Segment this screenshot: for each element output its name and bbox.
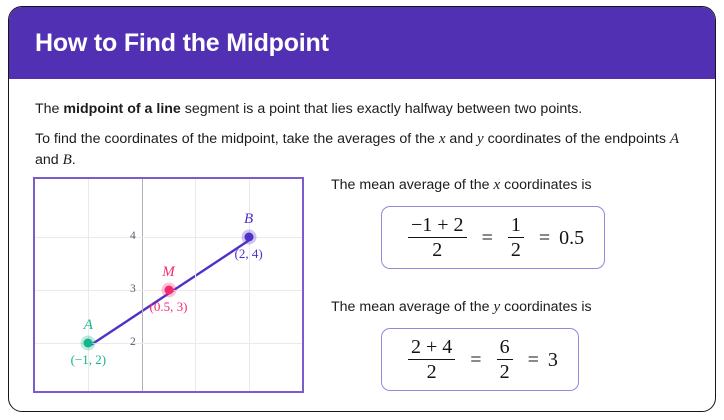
intro-p1-text-a: The bbox=[35, 101, 63, 117]
x-result: 0.5 bbox=[559, 228, 584, 248]
x-equals-2: = bbox=[539, 228, 550, 248]
header-banner: How to Find the Midpoint bbox=[9, 7, 715, 79]
y-frac1-numerator: 2 + 4 bbox=[408, 337, 455, 359]
intro-p1-text-b: segment is a point that lies exactly hal… bbox=[181, 101, 582, 117]
point-label-b: B bbox=[244, 211, 253, 228]
point-label-m: M bbox=[162, 264, 175, 281]
y-axis-tick-label: 3 bbox=[118, 283, 136, 295]
intro-p2-text-a: To find the coordinates of the midpoint,… bbox=[35, 131, 439, 147]
x-label-text-b: coordinates is bbox=[500, 177, 591, 193]
intro-p2-text-e: . bbox=[72, 152, 76, 168]
x-formula: −1 + 2 2 = 1 2 = 0.5 bbox=[402, 215, 584, 260]
intro-p2-var-b: B bbox=[63, 152, 72, 168]
y-average-label: The mean average of the y coordinates is bbox=[331, 299, 701, 316]
point-m bbox=[164, 286, 173, 295]
x-equals-1: = bbox=[482, 228, 493, 248]
y-equals-2: = bbox=[528, 350, 539, 370]
coordinate-graph: 432A(−1, 2)M(0.5, 3)B(2, 4) bbox=[33, 177, 304, 393]
y-formula-box: 2 + 4 2 = 6 2 = 3 bbox=[381, 328, 579, 391]
x-formula-box: −1 + 2 2 = 1 2 = 0.5 bbox=[381, 206, 605, 269]
intro-p2-text-b: and bbox=[445, 131, 477, 147]
y-fraction-1: 2 + 4 2 bbox=[408, 337, 455, 382]
lesson-card: How to Find the Midpoint The midpoint of… bbox=[8, 6, 716, 412]
gridline-horizontal bbox=[35, 343, 302, 344]
y-fraction-2: 6 2 bbox=[497, 337, 513, 382]
x-frac2-denominator: 2 bbox=[508, 237, 524, 260]
point-coordinates-b: (2, 4) bbox=[235, 246, 263, 262]
intro-p2-text-d: and bbox=[35, 152, 63, 168]
x-frac2-numerator: 1 bbox=[508, 215, 524, 237]
formulas-column: The mean average of the x coordinates is… bbox=[331, 177, 701, 391]
x-frac1-numerator: −1 + 2 bbox=[408, 215, 467, 237]
point-label-a: A bbox=[84, 317, 93, 334]
intro-paragraph-2: To find the coordinates of the midpoint,… bbox=[35, 129, 685, 172]
x-label-text-a: The mean average of the bbox=[331, 177, 493, 193]
y-label-text-b: coordinates is bbox=[500, 299, 591, 315]
intro-p2-text-c: coordinates of the endpoints bbox=[484, 131, 670, 147]
y-label-text-a: The mean average of the bbox=[331, 299, 493, 315]
y-frac2-denominator: 2 bbox=[497, 359, 513, 382]
intro-p2-var-y: y bbox=[477, 131, 484, 147]
y-result: 3 bbox=[548, 350, 558, 370]
y-axis bbox=[142, 179, 143, 391]
x-fraction-2: 1 2 bbox=[508, 215, 524, 260]
point-coordinates-a: (−1, 2) bbox=[71, 352, 107, 368]
x-average-label: The mean average of the x coordinates is bbox=[331, 177, 701, 194]
page-title: How to Find the Midpoint bbox=[35, 29, 329, 58]
y-equals-1: = bbox=[470, 350, 481, 370]
x-frac1-denominator: 2 bbox=[408, 237, 467, 260]
gridline-horizontal bbox=[35, 237, 302, 238]
point-coordinates-m: (0.5, 3) bbox=[150, 299, 188, 315]
content-area: The midpoint of a line segment is a poin… bbox=[9, 79, 715, 412]
point-a bbox=[84, 339, 93, 348]
intro-p1-bold: midpoint of a line bbox=[63, 101, 180, 117]
y-frac2-numerator: 6 bbox=[497, 337, 513, 359]
point-b bbox=[244, 233, 253, 242]
gridline-vertical bbox=[195, 179, 196, 391]
y-frac1-denominator: 2 bbox=[408, 359, 455, 382]
y-axis-tick-label: 2 bbox=[118, 336, 136, 348]
intro-paragraph-1: The midpoint of a line segment is a poin… bbox=[35, 99, 695, 119]
x-fraction-1: −1 + 2 2 bbox=[408, 215, 467, 260]
intro-p2-var-a: A bbox=[670, 131, 679, 147]
y-formula: 2 + 4 2 = 6 2 = 3 bbox=[402, 337, 558, 382]
y-axis-tick-label: 4 bbox=[118, 230, 136, 242]
